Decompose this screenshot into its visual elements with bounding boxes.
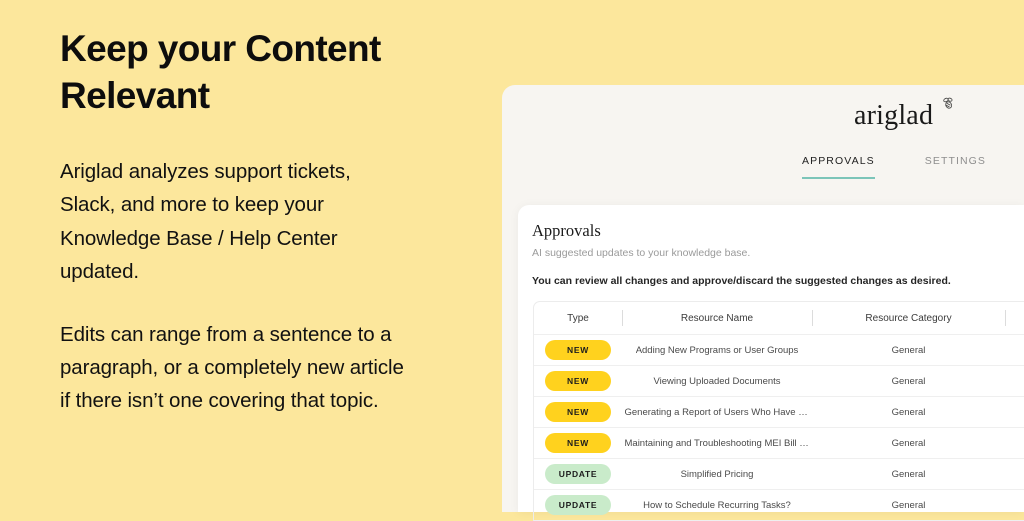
page-note: You can review all changes and approve/d… xyxy=(532,275,1024,287)
table-header-row: Type Resource Name Resource Category xyxy=(534,302,1024,335)
resource-category: General xyxy=(892,407,926,418)
resource-category: General xyxy=(892,469,926,480)
app-tabs: APPROVALS SETTINGS xyxy=(802,155,986,179)
table-row[interactable]: UPDATE Simplified Pricing General xyxy=(534,459,1024,490)
resource-name: Simplified Pricing xyxy=(681,469,754,480)
tab-settings[interactable]: SETTINGS xyxy=(925,155,986,177)
table-row[interactable]: NEW Generating a Report of Users Who Hav… xyxy=(534,397,1024,428)
page-headline: Keep your Content Relevant xyxy=(60,26,455,119)
resource-category: General xyxy=(892,438,926,449)
status-badge: UPDATE xyxy=(545,495,611,515)
tab-approvals[interactable]: APPROVALS xyxy=(802,155,875,179)
status-badge: UPDATE xyxy=(545,464,611,484)
column-header-resource-category: Resource Category xyxy=(865,313,951,324)
ariglad-logo: ariglad xyxy=(854,100,933,132)
resource-category: General xyxy=(892,500,926,511)
status-badge: NEW xyxy=(545,433,611,453)
column-divider xyxy=(622,310,623,326)
marketing-paragraph-1: Ariglad analyzes support tickets, Slack,… xyxy=(60,155,410,288)
resource-category: General xyxy=(892,345,926,356)
bee-icon xyxy=(940,95,956,111)
marketing-panel: Keep your Content Relevant Ariglad analy… xyxy=(0,0,502,512)
column-divider xyxy=(1005,310,1006,326)
status-badge: NEW xyxy=(545,340,611,360)
column-divider xyxy=(812,310,813,326)
resource-name: Adding New Programs or User Groups xyxy=(636,345,799,356)
table-row[interactable]: NEW Maintaining and Troubleshooting MEI … xyxy=(534,428,1024,459)
resource-name: Maintaining and Troubleshooting MEI Bill… xyxy=(625,438,810,449)
column-header-resource-name: Resource Name xyxy=(681,313,753,324)
resource-name: How to Schedule Recurring Tasks? xyxy=(643,500,791,511)
marketing-paragraph-2: Edits can range from a sentence to a par… xyxy=(60,318,410,418)
page-title: Approvals xyxy=(532,221,1024,241)
approvals-table: Type Resource Name Resource Category NEW… xyxy=(533,301,1024,521)
status-badge: NEW xyxy=(545,371,611,391)
approvals-card: Approvals AI suggested updates to your k… xyxy=(518,205,1024,512)
page-subtitle: AI suggested updates to your knowledge b… xyxy=(532,247,1024,259)
table-row[interactable]: NEW Viewing Uploaded Documents General xyxy=(534,366,1024,397)
table-row[interactable]: NEW Adding New Programs or User Groups G… xyxy=(534,335,1024,366)
column-header-type: Type xyxy=(567,313,589,324)
status-badge: NEW xyxy=(545,402,611,422)
resource-name: Viewing Uploaded Documents xyxy=(653,376,780,387)
table-row[interactable]: UPDATE How to Schedule Recurring Tasks? … xyxy=(534,490,1024,521)
resource-category: General xyxy=(892,376,926,387)
resource-name: Generating a Report of Users Who Have No… xyxy=(625,407,810,418)
